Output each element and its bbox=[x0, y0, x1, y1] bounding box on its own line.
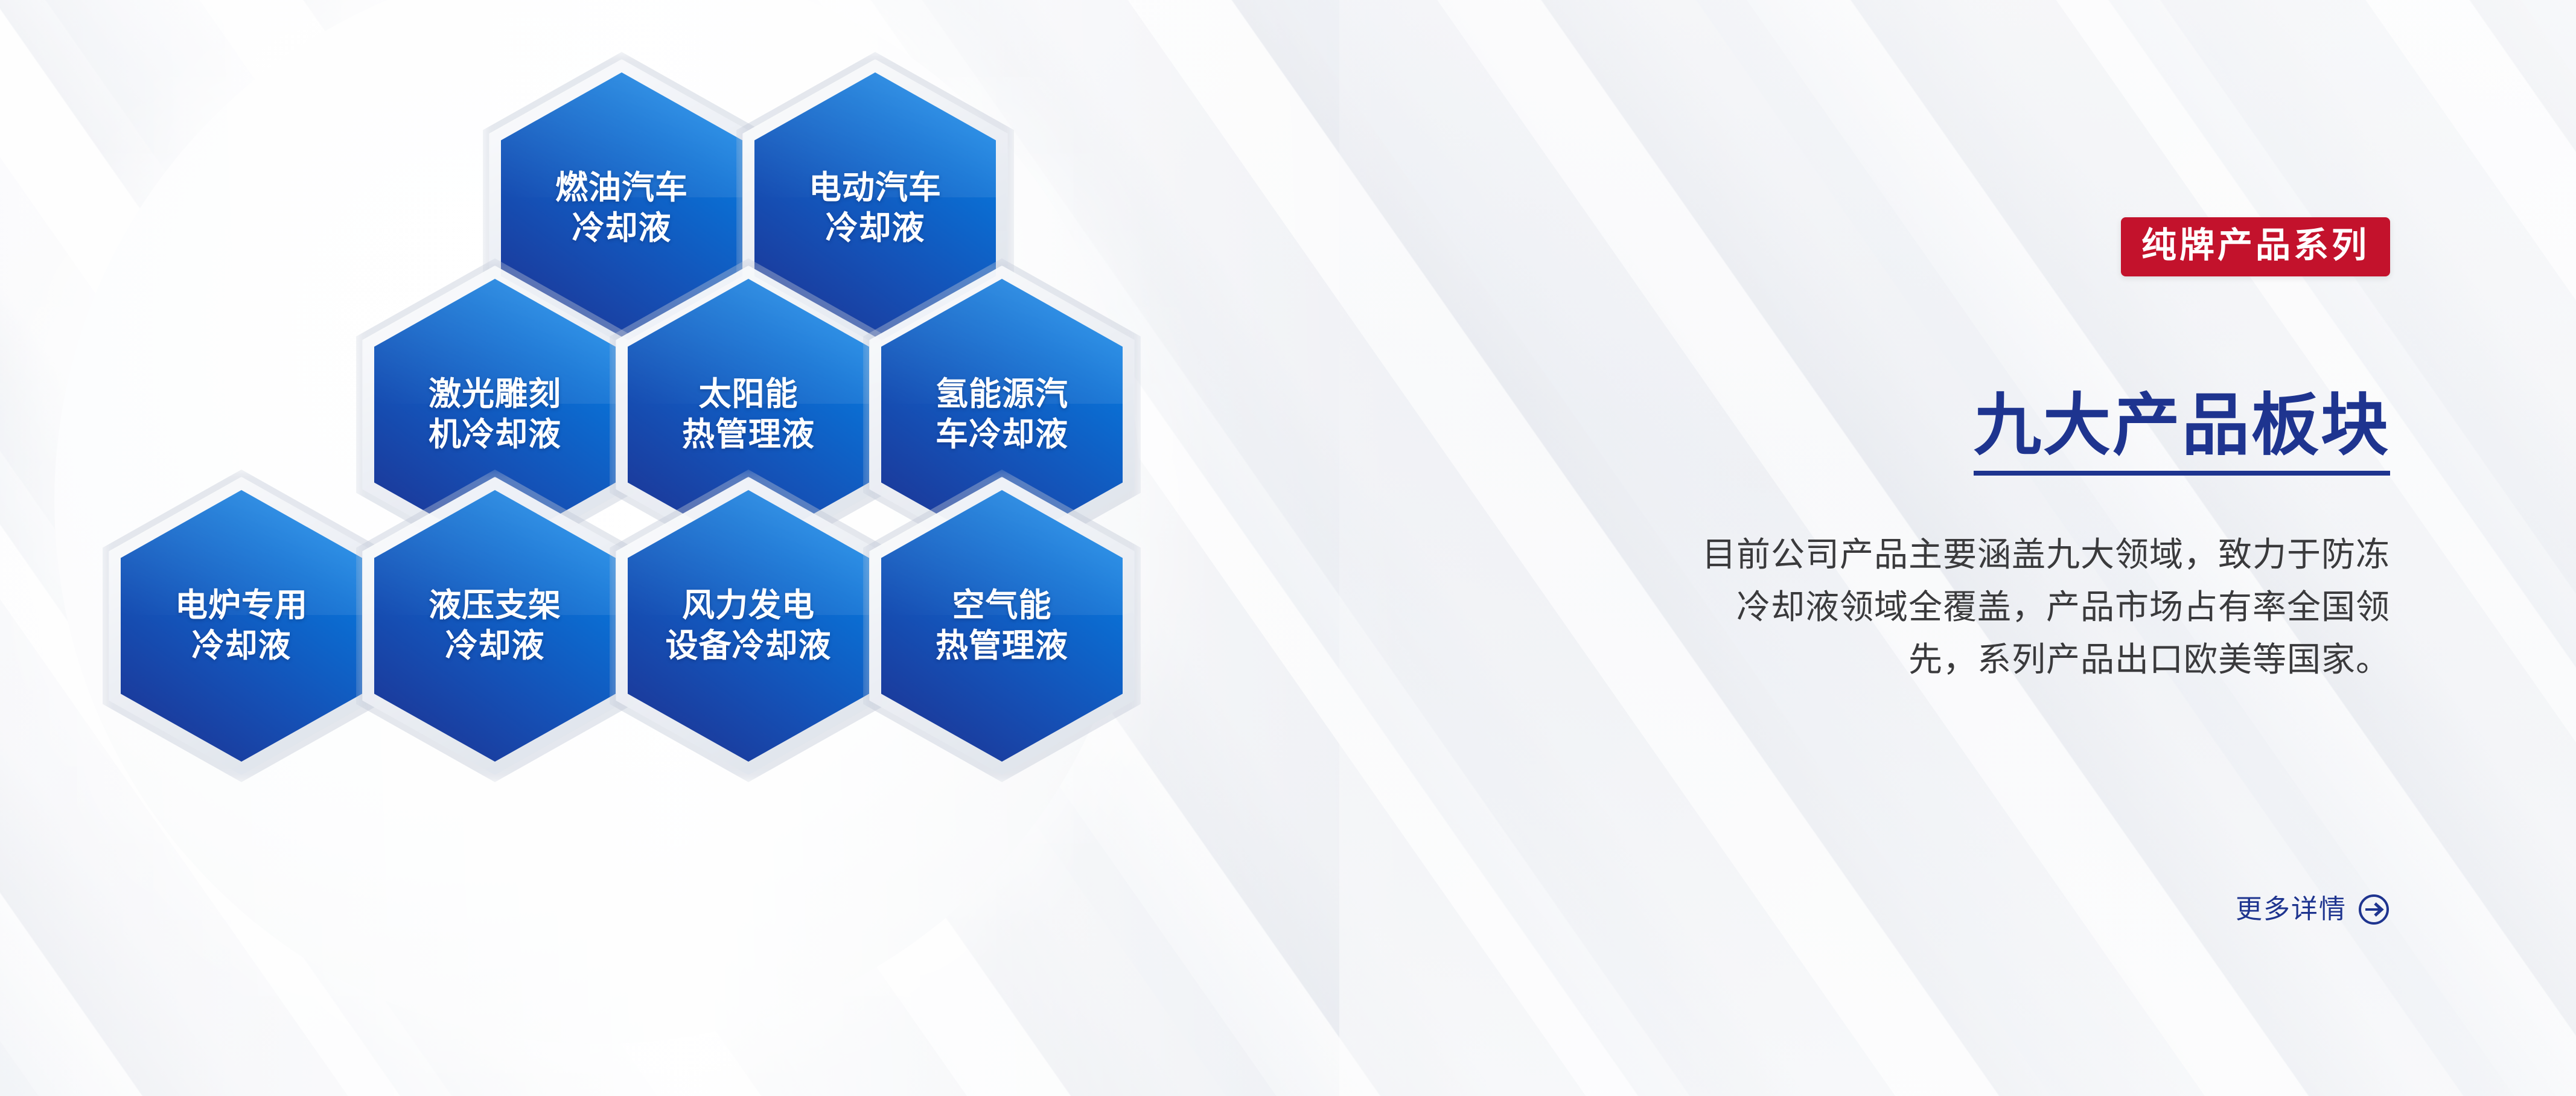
product-series-badge-label: 纯牌产品系列 bbox=[2141, 228, 2370, 263]
hexagon-label: 太阳能热管理液 bbox=[677, 374, 820, 456]
hexagon-label-line1: 风力发电 bbox=[666, 585, 832, 626]
hexagon-label: 激光雕刻机冷却液 bbox=[424, 374, 566, 456]
hexagon-label-line2: 热管理液 bbox=[682, 415, 815, 456]
headline-underline bbox=[1974, 471, 2390, 476]
hexagon-label-line1: 空气能 bbox=[936, 585, 1068, 626]
hexagon-cluster: 燃油汽车冷却液电动汽车冷却液激光雕刻机冷却液太阳能热管理液氢能源汽车冷却液电炉专… bbox=[0, 0, 1509, 1096]
content-panel: 纯牌产品系列 九大产品板块 目前公司产品主要涵盖九大领域，致力于防冻冷却液领域全… bbox=[1521, 0, 2576, 1096]
more-details-link[interactable]: 更多详情 bbox=[2236, 893, 2390, 926]
page-title: 九大产品板块 bbox=[1974, 390, 2390, 461]
hexagon-label: 风力发电设备冷却液 bbox=[661, 585, 837, 667]
hexagon-label-line2: 冷却液 bbox=[555, 208, 688, 249]
hexagon-label: 液压支架冷却液 bbox=[424, 585, 566, 667]
hexagon-label-line1: 电动汽车 bbox=[809, 168, 942, 209]
hexagon-label-line1: 太阳能 bbox=[682, 374, 815, 415]
description-text: 目前公司产品主要涵盖九大领域，致力于防冻冷却液领域全覆盖，产品市场占有率全国领先… bbox=[1702, 529, 2390, 686]
product-series-badge: 纯牌产品系列 bbox=[2121, 217, 2390, 276]
hexagon-label-line1: 电炉专用 bbox=[175, 585, 308, 626]
hexagon-label: 电炉专用冷却液 bbox=[170, 585, 313, 667]
more-details-label: 更多详情 bbox=[2236, 896, 2347, 923]
hexagon-hydraulic-support-coolant[interactable]: 液压支架冷却液 bbox=[374, 490, 616, 762]
hexagon-label-line1: 激光雕刻 bbox=[429, 374, 561, 415]
hexagon-label: 电动汽车冷却液 bbox=[804, 168, 946, 249]
hexagon-label-line2: 冷却液 bbox=[809, 208, 942, 249]
product-sectors-banner: 燃油汽车冷却液电动汽车冷却液激光雕刻机冷却液太阳能热管理液氢能源汽车冷却液电炉专… bbox=[0, 0, 2576, 1096]
hexagon-label-line2: 冷却液 bbox=[429, 626, 561, 667]
hexagon-label: 空气能热管理液 bbox=[931, 585, 1073, 667]
hexagon-label-line1: 氢能源汽 bbox=[936, 374, 1068, 415]
arrow-right-circle-icon bbox=[2358, 893, 2390, 926]
hexagon-label-line1: 燃油汽车 bbox=[555, 168, 688, 209]
hexagon-electric-furnace-coolant[interactable]: 电炉专用冷却液 bbox=[121, 490, 362, 762]
hexagon-wind-power-coolant[interactable]: 风力发电设备冷却液 bbox=[628, 490, 869, 762]
hexagon-label-line2: 车冷却液 bbox=[936, 415, 1068, 456]
hexagon-label-line2: 冷却液 bbox=[175, 626, 308, 667]
hexagon-label: 氢能源汽车冷却液 bbox=[931, 374, 1073, 456]
hexagon-label-line2: 热管理液 bbox=[936, 626, 1068, 667]
hexagon-label-line1: 液压支架 bbox=[429, 585, 561, 626]
hexagon-air-energy-thermal-fluid[interactable]: 空气能热管理液 bbox=[881, 490, 1123, 762]
headline-block: 九大产品板块 bbox=[1974, 390, 2390, 476]
hexagon-label: 燃油汽车冷却液 bbox=[550, 168, 693, 249]
hexagon-label-line2: 机冷却液 bbox=[429, 415, 561, 456]
hexagon-label-line2: 设备冷却液 bbox=[666, 626, 832, 667]
